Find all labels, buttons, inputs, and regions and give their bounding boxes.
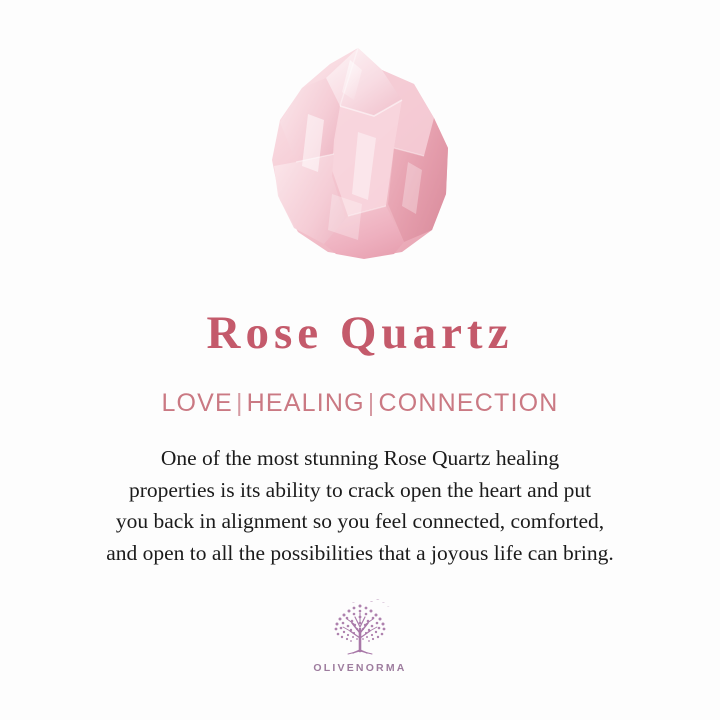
crystal-image-stage [0,0,720,288]
tree-canopy [335,600,390,643]
keyword-healing: HEALING [247,389,365,417]
brand-logo: OLIVENORMA [313,593,406,674]
description-line: One of the most stunning Rose Quartz hea… [40,443,680,475]
keyword-separator-1: | [233,389,247,417]
birds-icon [352,600,389,608]
description-line: you back in alignment so you feel connec… [40,506,680,538]
description-line: and open to all the possibilities that a… [40,538,680,570]
description-line: properties is its ability to crack open … [40,475,680,507]
tree-of-life-icon [323,593,397,657]
keyword-love: LOVE [161,389,233,417]
brand-name: OLIVENORMA [313,662,406,674]
rose-quartz-crystal-icon [262,44,458,262]
rose-quartz-image [262,44,458,262]
keyword-separator-2: | [365,389,379,417]
rose-quartz-product-card: Rose Quartz LOVE|HEALING|CONNECTION One … [0,0,720,720]
keyword-subtitle: LOVE|HEALING|CONNECTION [161,389,558,418]
tree-trunk [343,613,377,651]
keyword-connection: CONNECTION [379,389,559,417]
description-text: One of the most stunning Rose Quartz hea… [40,443,680,569]
page-title: Rose Quartz [207,310,514,357]
